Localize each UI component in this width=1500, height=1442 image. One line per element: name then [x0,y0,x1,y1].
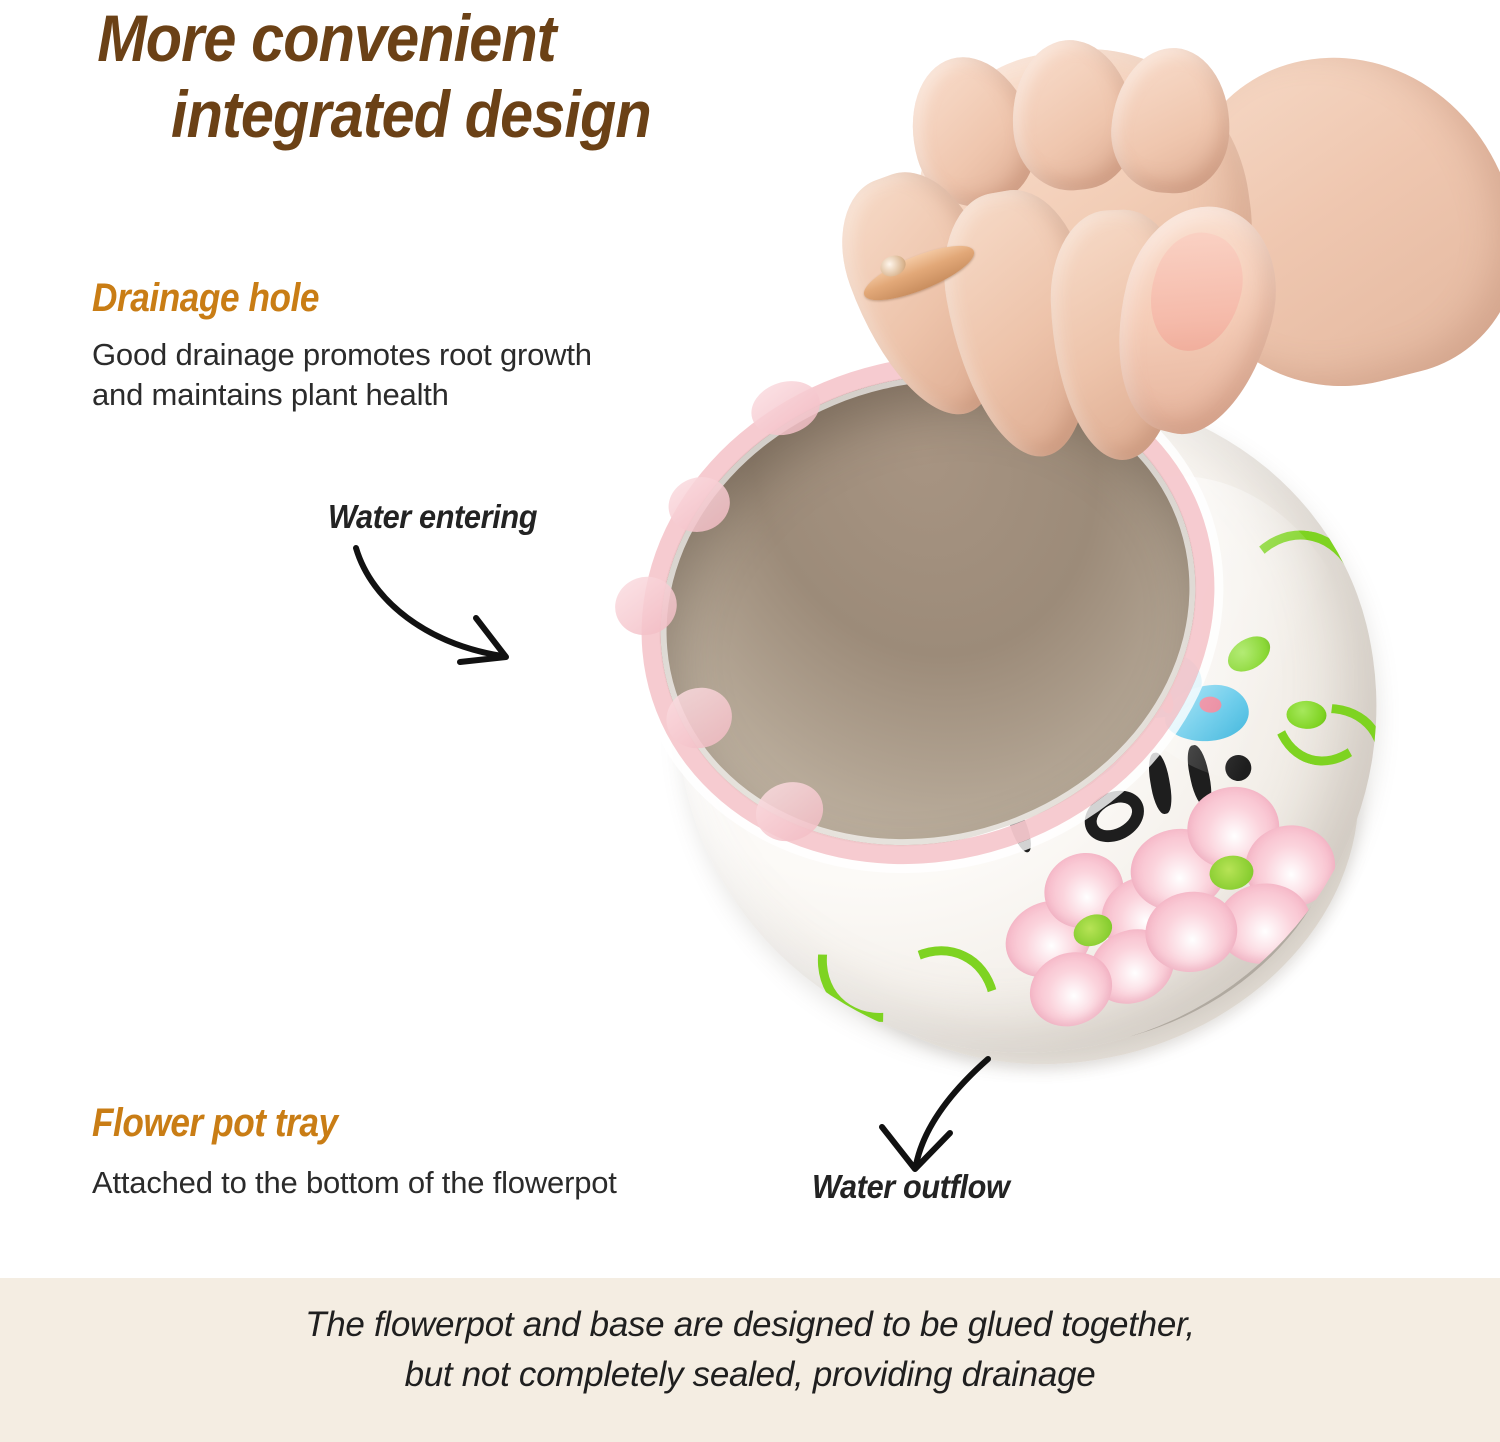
water-entering-label: Water entering [328,498,537,536]
drainage-hole-description: Good drainage promotes root growth and m… [92,335,752,415]
product-photo [560,20,1500,1080]
water-entering-arrow-icon [350,540,570,680]
drainage-hole-description-line-1: Good drainage promotes root growth [92,335,752,375]
bottom-caption-line-1: The flowerpot and base are designed to b… [0,1300,1500,1350]
bottom-caption-text: The flowerpot and base are designed to b… [0,1300,1500,1400]
flower-pot-tray-description: Attached to the bottom of the flowerpot [92,1163,792,1203]
water-outflow-label: Water outflow [812,1168,1009,1206]
drainage-hole-heading: Drainage hole [92,275,319,321]
flower-pot-tray-description-line-1: Attached to the bottom of the flowerpot [92,1163,792,1203]
product-infographic: More convenient integrated design [0,0,1500,1442]
flower-pot-tray-heading: Flower pot tray [92,1100,338,1146]
bottom-caption-band: The flowerpot and base are designed to b… [0,1278,1500,1442]
bottom-caption-line-2: but not completely sealed, providing dra… [0,1350,1500,1400]
drainage-hole-description-line-2: and maintains plant health [92,375,752,415]
